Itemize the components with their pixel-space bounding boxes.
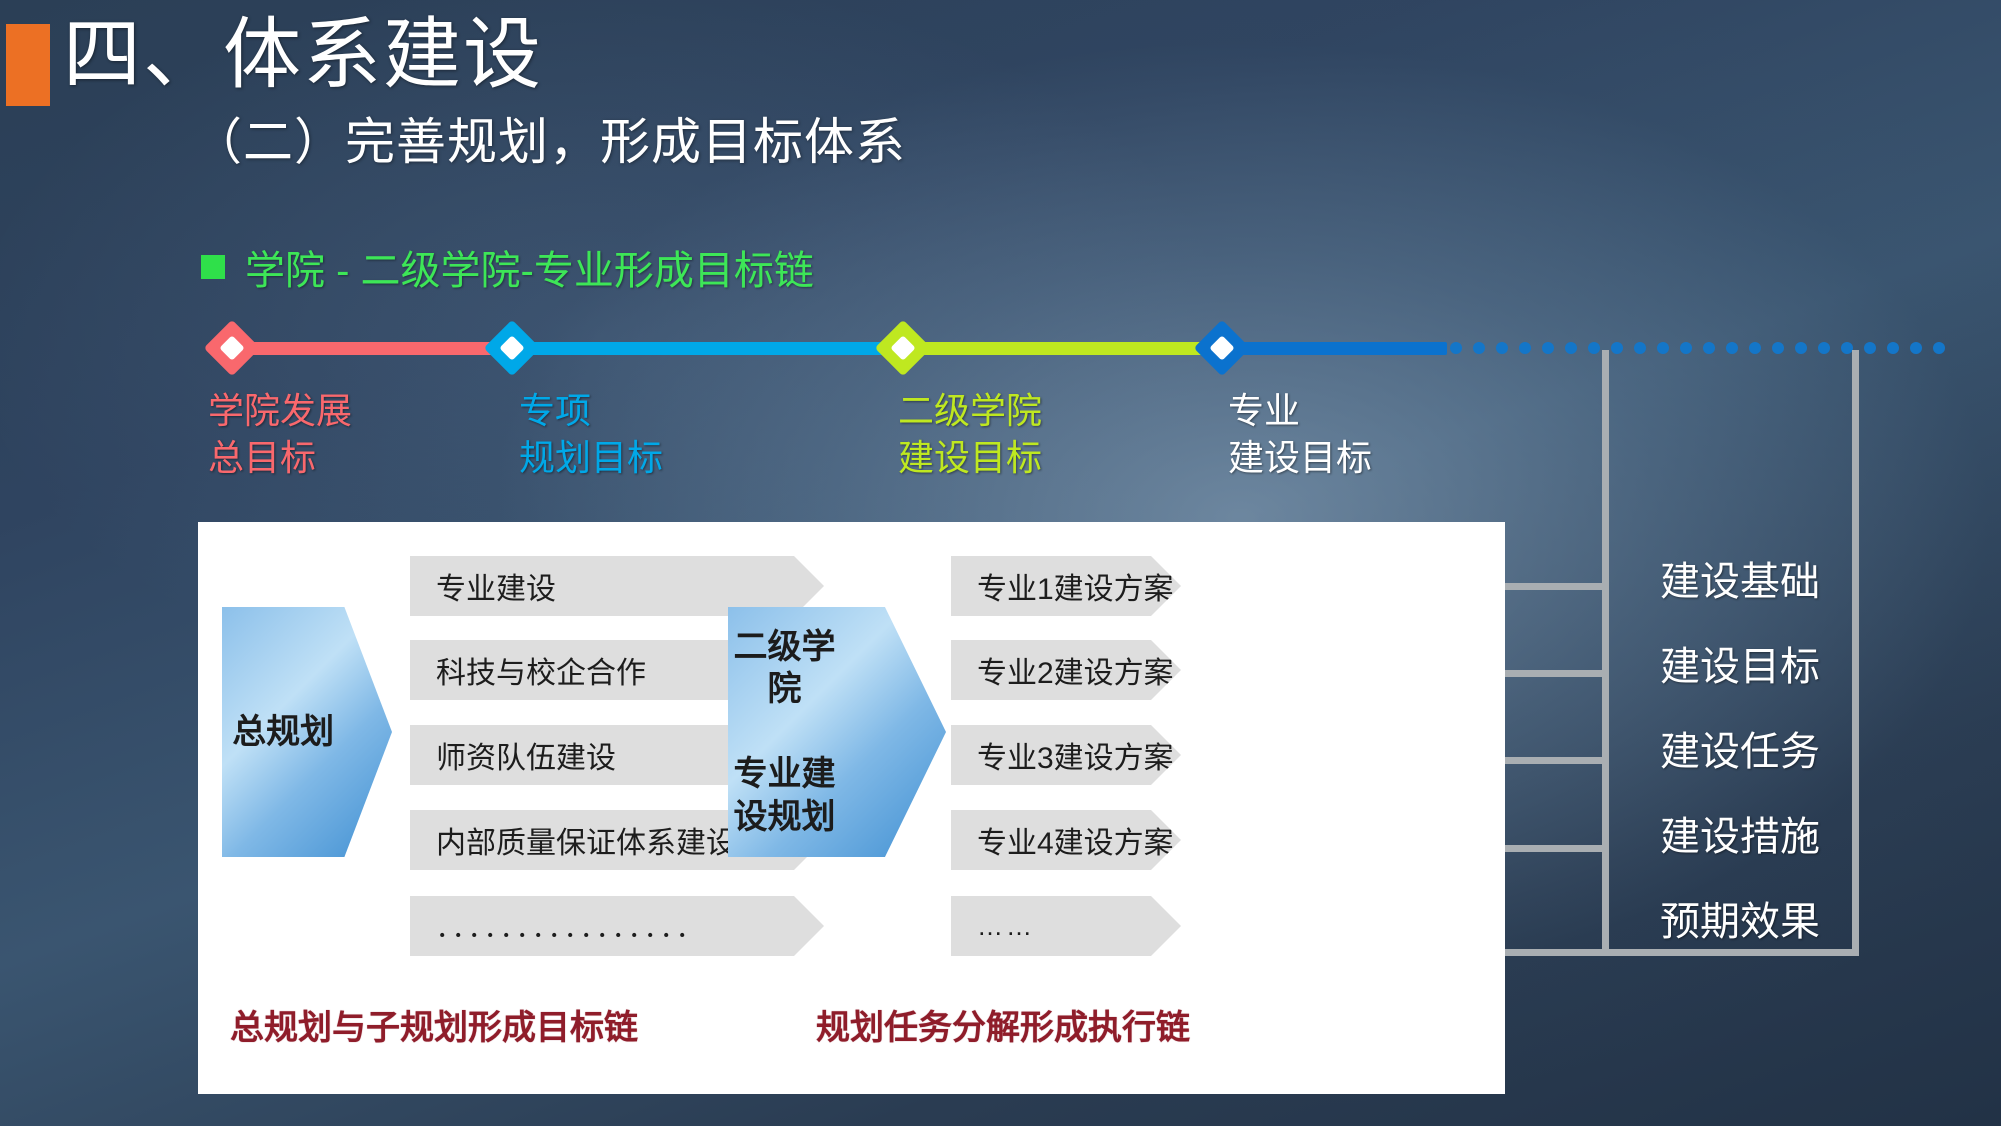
right-item-5: …… <box>951 896 1181 956</box>
left-hub-label: 总规划 <box>222 711 344 754</box>
right-hub-label-line2: 专业建设规划 <box>728 753 841 838</box>
timeline-node-3-diamond <box>875 320 932 377</box>
left-item-5: ．．．．．．．．．．．．．．．． <box>410 896 824 956</box>
timeline-label-4: 专业 建设目标 <box>1228 388 1372 482</box>
caption-right: 规划任务分解形成执行链 <box>816 1000 1190 1049</box>
outcome-list: 建设基础 建设目标 建设任务 建设措施 预期效果 <box>1640 562 1840 987</box>
timeline-label-2-line1: 专项 <box>519 390 591 431</box>
timeline-label-1-line2: 总目标 <box>208 437 316 478</box>
timeline-node-1-diamond <box>204 320 261 377</box>
right-item-2-label: 专业2建设方案 <box>951 648 1174 692</box>
right-item-4-label: 专业4建设方案 <box>951 818 1174 862</box>
timeline-label-3: 二级学院 建设目标 <box>898 388 1042 482</box>
timeline-segment-1 <box>232 342 522 355</box>
right-item-3-label: 专业3建设方案 <box>951 733 1174 777</box>
right-item-5-label: …… <box>951 911 1035 942</box>
outcome-item-5: 预期效果 <box>1640 902 1840 942</box>
right-item-2: 专业2建设方案 <box>951 640 1181 700</box>
outcome-item-4: 建设措施 <box>1640 817 1840 857</box>
left-item-2-label: 科技与校企合作 <box>410 648 646 692</box>
right-item-4: 专业4建设方案 <box>951 810 1181 870</box>
outcome-item-2: 建设目标 <box>1640 647 1840 687</box>
left-hub-shape: 总规划 <box>222 607 392 857</box>
page-subtitle: （二）完善规划，形成目标体系 <box>192 102 906 174</box>
timeline-label-4-line1: 专业 <box>1228 390 1300 431</box>
page-title: 四、体系建设 <box>63 14 543 96</box>
timeline-node-2-diamond <box>484 320 541 377</box>
right-item-1: 专业1建设方案 <box>951 556 1181 616</box>
square-bullet-icon <box>201 255 225 279</box>
left-item-4-label: 内部质量保证体系建设 <box>410 818 736 862</box>
timeline-dotted-extension <box>1450 340 1945 356</box>
timeline-label-3-line2: 建设目标 <box>898 437 1042 478</box>
timeline-segment-4 <box>1222 342 1447 355</box>
left-item-5-label: ．．．．．．．．．．．．．．．． <box>410 908 705 945</box>
timeline-label-1: 学院发展 总目标 <box>208 388 352 482</box>
timeline-node-4-diamond <box>1194 320 1251 377</box>
timeline-label-2: 专项 规划目标 <box>519 388 663 482</box>
outcome-item-3: 建设任务 <box>1640 732 1840 772</box>
accent-bar <box>6 24 50 106</box>
slide-canvas: 四、体系建设 （二）完善规划，形成目标体系 学院 - 二级学院-专业形成目标链 … <box>0 0 2001 1126</box>
diagram-panel: 总规划 专业建设 科技与校企合作 师资队伍建设 内部质量保证体系建设 ．．．．．… <box>198 522 1505 1094</box>
timeline-label-4-line2: 建设目标 <box>1228 437 1372 478</box>
right-hub-label-line1: 二级学院 <box>728 626 841 711</box>
timeline-label-1-line1: 学院发展 <box>208 390 352 431</box>
caption-left: 总规划与子规划形成目标链 <box>230 1000 638 1049</box>
outcome-item-1: 建设基础 <box>1640 562 1840 602</box>
left-item-1-label: 专业建设 <box>410 564 556 608</box>
timeline-segment-2 <box>512 342 912 355</box>
timeline-segment-3 <box>903 342 1233 355</box>
right-item-3: 专业3建设方案 <box>951 725 1181 785</box>
bracket-outer-vertical-line <box>1852 350 1859 956</box>
right-hub-shape: 二级学院专业建设规划 <box>728 607 946 857</box>
bullet-label: 学院 - 二级学院-专业形成目标链 <box>245 238 814 296</box>
timeline-label-2-line2: 规划目标 <box>519 437 663 478</box>
bracket-inner-vertical-line <box>1602 350 1609 956</box>
right-item-1-label: 专业1建设方案 <box>951 564 1174 608</box>
bullet-row: 学院 - 二级学院-专业形成目标链 <box>201 238 814 296</box>
timeline-label-3-line1: 二级学院 <box>898 390 1042 431</box>
right-hub-label: 二级学院专业建设规划 <box>728 626 885 839</box>
left-item-3-label: 师资队伍建设 <box>410 733 616 777</box>
